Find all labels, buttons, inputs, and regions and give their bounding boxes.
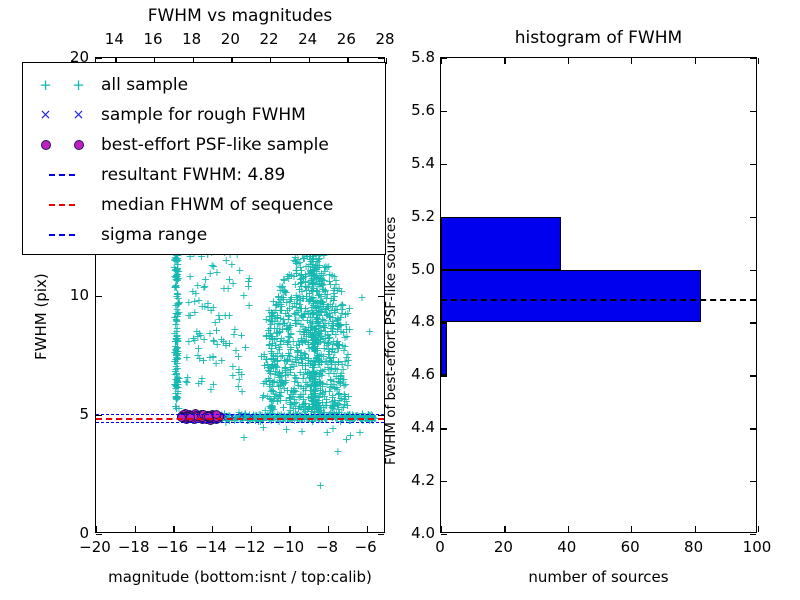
histogram-y-tick: 5.2 bbox=[395, 207, 435, 225]
tick bbox=[750, 111, 756, 112]
tick bbox=[96, 526, 97, 532]
tick bbox=[441, 428, 447, 429]
histogram-y-tick: 5.4 bbox=[395, 154, 435, 172]
circle-icon bbox=[74, 140, 84, 150]
tick bbox=[289, 526, 290, 532]
legend-symbol-dashed-line bbox=[23, 204, 101, 206]
scatter-ylabel: FWHM (pix) bbox=[32, 273, 50, 360]
tick bbox=[96, 534, 102, 535]
histogram-plot-area bbox=[440, 57, 757, 533]
histogram-y-tick: 4.6 bbox=[395, 365, 435, 383]
legend-item: ++all sample bbox=[23, 70, 385, 100]
tick bbox=[750, 428, 756, 429]
tick bbox=[96, 58, 102, 59]
scatter-top-tick: 22 bbox=[259, 30, 279, 48]
x-icon: × bbox=[40, 108, 52, 122]
tick bbox=[441, 526, 442, 532]
tick bbox=[750, 58, 756, 59]
plus-icon: + bbox=[72, 78, 85, 93]
tick bbox=[441, 481, 447, 482]
scatter-top-tick: 14 bbox=[104, 30, 124, 48]
legend-item-label: all sample bbox=[101, 75, 188, 95]
tick bbox=[631, 58, 632, 64]
histogram-y-tick: 4.2 bbox=[395, 471, 435, 489]
tick bbox=[504, 58, 505, 64]
histogram-x-tick: 0 bbox=[423, 538, 457, 556]
tick bbox=[96, 296, 102, 297]
tick bbox=[212, 526, 213, 532]
histogram-title: histogram of FWHM bbox=[440, 28, 757, 48]
legend-symbol-dashed-line bbox=[23, 174, 101, 176]
tick bbox=[367, 526, 368, 532]
histogram-y-tick: 4.4 bbox=[395, 418, 435, 436]
legend-item-label: sigma range bbox=[101, 225, 207, 245]
tick bbox=[441, 58, 442, 64]
legend-item-label: sample for rough FWHM bbox=[101, 105, 306, 125]
tick bbox=[135, 526, 136, 532]
scatter-top-tick: 28 bbox=[375, 30, 395, 48]
histogram-y-tick: 5.8 bbox=[395, 48, 435, 66]
tick bbox=[251, 526, 252, 532]
tick bbox=[441, 270, 447, 271]
histogram-panel: histogram of FWHM 4.04.24.44.64.85.05.25… bbox=[400, 0, 800, 600]
histogram-x-tick: 20 bbox=[486, 538, 520, 556]
scatter-y-tick: 0 bbox=[55, 524, 89, 542]
tick bbox=[695, 526, 696, 532]
scatter-bottom-tick: −18 bbox=[117, 538, 151, 556]
tick bbox=[378, 534, 384, 535]
tick bbox=[568, 58, 569, 64]
legend-item: median FHWM of sequence bbox=[23, 190, 385, 220]
scatter-top-tick: 16 bbox=[143, 30, 163, 48]
scatter-y-tick: 10 bbox=[55, 286, 89, 304]
scatter-bottom-tick: −10 bbox=[271, 538, 305, 556]
tick bbox=[750, 164, 756, 165]
tick bbox=[758, 58, 759, 64]
tick bbox=[750, 217, 756, 218]
histogram-y-tick: 5.0 bbox=[395, 260, 435, 278]
scatter-xlabel: magnitude (bottom:isnt / top:calib) bbox=[95, 568, 385, 586]
tick bbox=[441, 217, 447, 218]
scatter-bottom-tick: −16 bbox=[155, 538, 189, 556]
scatter-y-tick: 5 bbox=[55, 405, 89, 423]
histogram-x-tick: 40 bbox=[550, 538, 584, 556]
tick bbox=[441, 534, 447, 535]
tick bbox=[750, 534, 756, 535]
dashed-line-icon bbox=[49, 204, 75, 206]
histogram-ticks bbox=[441, 58, 756, 532]
tick bbox=[568, 526, 569, 532]
legend-item: ××sample for rough FWHM bbox=[23, 100, 385, 130]
tick bbox=[504, 526, 505, 532]
scatter-top-tick: 20 bbox=[220, 30, 240, 48]
scatter-bottom-tick: −8 bbox=[310, 538, 344, 556]
circle-icon bbox=[41, 140, 51, 150]
legend-item: best-effort PSF-like sample bbox=[23, 130, 385, 160]
plus-icon: + bbox=[39, 78, 52, 93]
histogram-xlabel: number of sources bbox=[440, 568, 757, 586]
legend-item-label: resultant FWHM: 4.89 bbox=[101, 165, 285, 185]
tick bbox=[96, 415, 102, 416]
tick bbox=[386, 58, 387, 64]
x-icon: × bbox=[73, 108, 85, 122]
tick bbox=[441, 322, 447, 323]
histogram-y-tick: 5.6 bbox=[395, 101, 435, 119]
histogram-x-tick: 60 bbox=[613, 538, 647, 556]
legend-item-label: median FHWM of sequence bbox=[101, 195, 333, 215]
legend-item: resultant FWHM: 4.89 bbox=[23, 160, 385, 190]
legend-item-label: best-effort PSF-like sample bbox=[101, 135, 329, 155]
tick bbox=[750, 270, 756, 271]
tick bbox=[328, 526, 329, 532]
tick bbox=[750, 322, 756, 323]
legend-symbol-circle-marker bbox=[23, 140, 101, 150]
histogram-y-tick: 4.8 bbox=[395, 312, 435, 330]
tick bbox=[378, 58, 384, 59]
histogram-x-tick: 100 bbox=[740, 538, 774, 556]
tick bbox=[758, 526, 759, 532]
scatter-top-tick: 26 bbox=[336, 30, 356, 48]
scatter-top-tick: 24 bbox=[298, 30, 318, 48]
histogram-x-tick: 80 bbox=[677, 538, 711, 556]
legend-symbol-plus-marker: ++ bbox=[23, 78, 101, 93]
tick bbox=[695, 58, 696, 64]
legend: ++all sample××sample for rough FWHMbest-… bbox=[22, 62, 386, 255]
scatter-title: FWHM vs magnitudes bbox=[95, 6, 385, 26]
scatter-bottom-tick: −12 bbox=[233, 538, 267, 556]
legend-symbol-dashdot-line bbox=[23, 234, 101, 236]
tick bbox=[750, 375, 756, 376]
tick bbox=[441, 375, 447, 376]
tick bbox=[750, 481, 756, 482]
tick bbox=[173, 526, 174, 532]
legend-item: sigma range bbox=[23, 220, 385, 250]
dashdot-line-icon bbox=[49, 234, 75, 236]
tick bbox=[441, 111, 447, 112]
scatter-bottom-tick: −6 bbox=[349, 538, 383, 556]
scatter-top-tick: 18 bbox=[182, 30, 202, 48]
tick bbox=[441, 164, 447, 165]
dashed-line-icon bbox=[49, 174, 75, 176]
scatter-bottom-tick: −14 bbox=[194, 538, 228, 556]
legend-symbol-x-marker: ×× bbox=[23, 108, 101, 122]
tick bbox=[631, 526, 632, 532]
